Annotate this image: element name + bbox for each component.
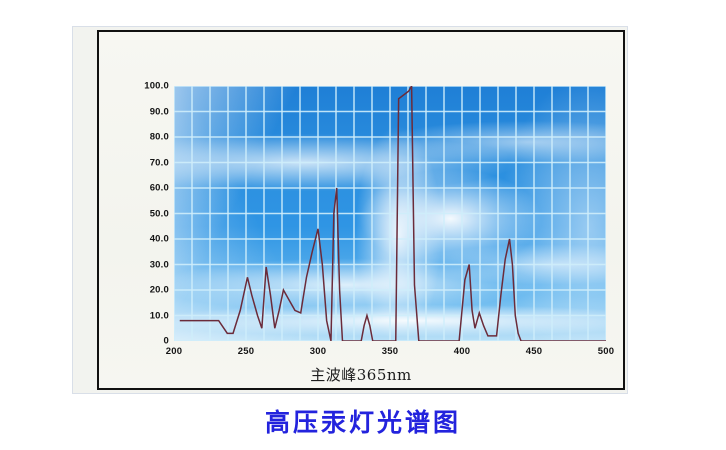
x-tick-label: 300 [310,346,326,357]
spectrum-polyline [180,86,606,341]
x-tick-label: 400 [454,346,470,357]
peak-annotation: 主波峰365nm [99,364,623,385]
y-tick-label: 50.0 [150,208,169,219]
x-tick-label: 500 [598,346,614,357]
x-tick-label: 250 [238,346,254,357]
x-tick-label: 450 [526,346,542,357]
x-axis-tick-labels: 200250300350400450500 [174,346,606,362]
y-tick-label: 0 [164,336,169,347]
y-tick-label: 40.0 [150,234,169,245]
y-tick-label: 90.0 [150,106,169,117]
y-tick-label: 80.0 [150,132,169,143]
figure-card: 010.020.030.040.050.060.070.080.090.0100… [73,27,627,393]
y-tick-label: 10.0 [150,310,169,321]
plot-area [174,86,606,341]
figure-caption: 高压汞灯光谱图 [0,403,726,439]
y-tick-label: 100.0 [144,81,169,92]
spectrum-curve [174,86,606,341]
y-tick-label: 60.0 [150,183,169,194]
y-tick-label: 20.0 [150,285,169,296]
x-tick-label: 350 [382,346,398,357]
figure-frame: 010.020.030.040.050.060.070.080.090.0100… [97,30,625,390]
y-tick-label: 70.0 [150,157,169,168]
chart-container: 010.020.030.040.050.060.070.080.090.0100… [99,32,623,388]
x-tick-label: 200 [166,346,182,357]
y-tick-label: 30.0 [150,259,169,270]
y-axis-tick-labels: 010.020.030.040.050.060.070.080.090.0100… [121,86,169,341]
